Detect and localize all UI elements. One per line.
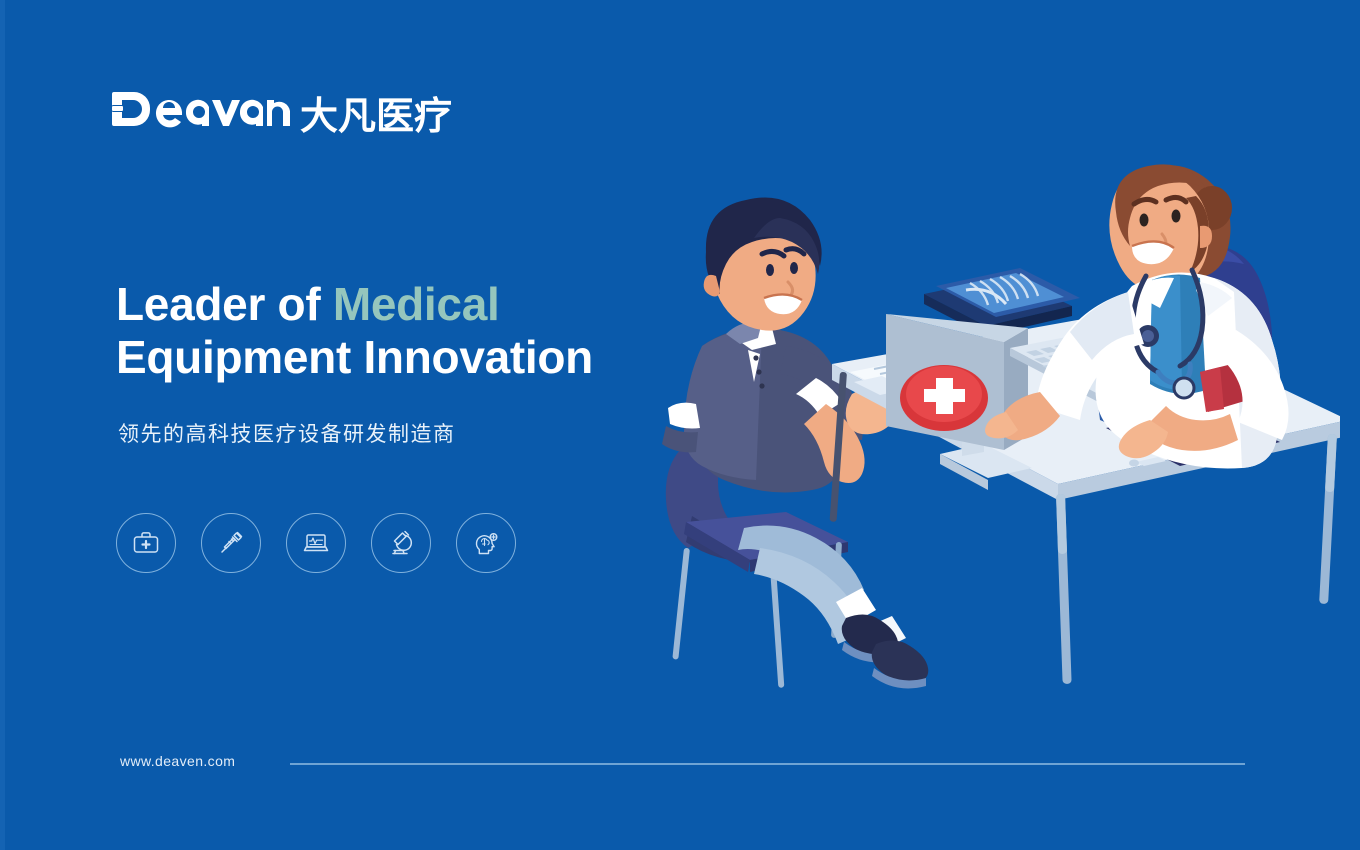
hero-illustration — [640, 150, 1340, 690]
syringe-icon[interactable] — [201, 513, 261, 573]
headline-line-1-prefix: Leader of — [116, 278, 333, 330]
patient-figure — [662, 198, 928, 689]
medical-kit-icon[interactable] — [116, 513, 176, 573]
brand-logo[interactable]: 大凡医疗 — [112, 88, 452, 135]
monitor — [886, 314, 1032, 490]
left-edge-strip — [0, 0, 5, 850]
slide-root: 大凡医疗 Leader of Medical Equipment Innovat… — [0, 0, 1360, 850]
headline-line-1-accent: Medical — [333, 278, 500, 330]
logo-wordmark-latin — [112, 88, 290, 135]
laptop-ecg-icon[interactable] — [286, 513, 346, 573]
page-subtitle: 领先的高科技医疗设备研发制造商 — [118, 418, 456, 448]
service-icon-row — [116, 513, 516, 573]
logo-wordmark-chinese: 大凡医疗 — [300, 97, 452, 135]
microscope-icon[interactable] — [371, 513, 431, 573]
footer-website-url[interactable]: www.deaven.com — [120, 753, 235, 769]
footer-divider — [290, 763, 1245, 765]
brain-head-icon[interactable] — [456, 513, 516, 573]
